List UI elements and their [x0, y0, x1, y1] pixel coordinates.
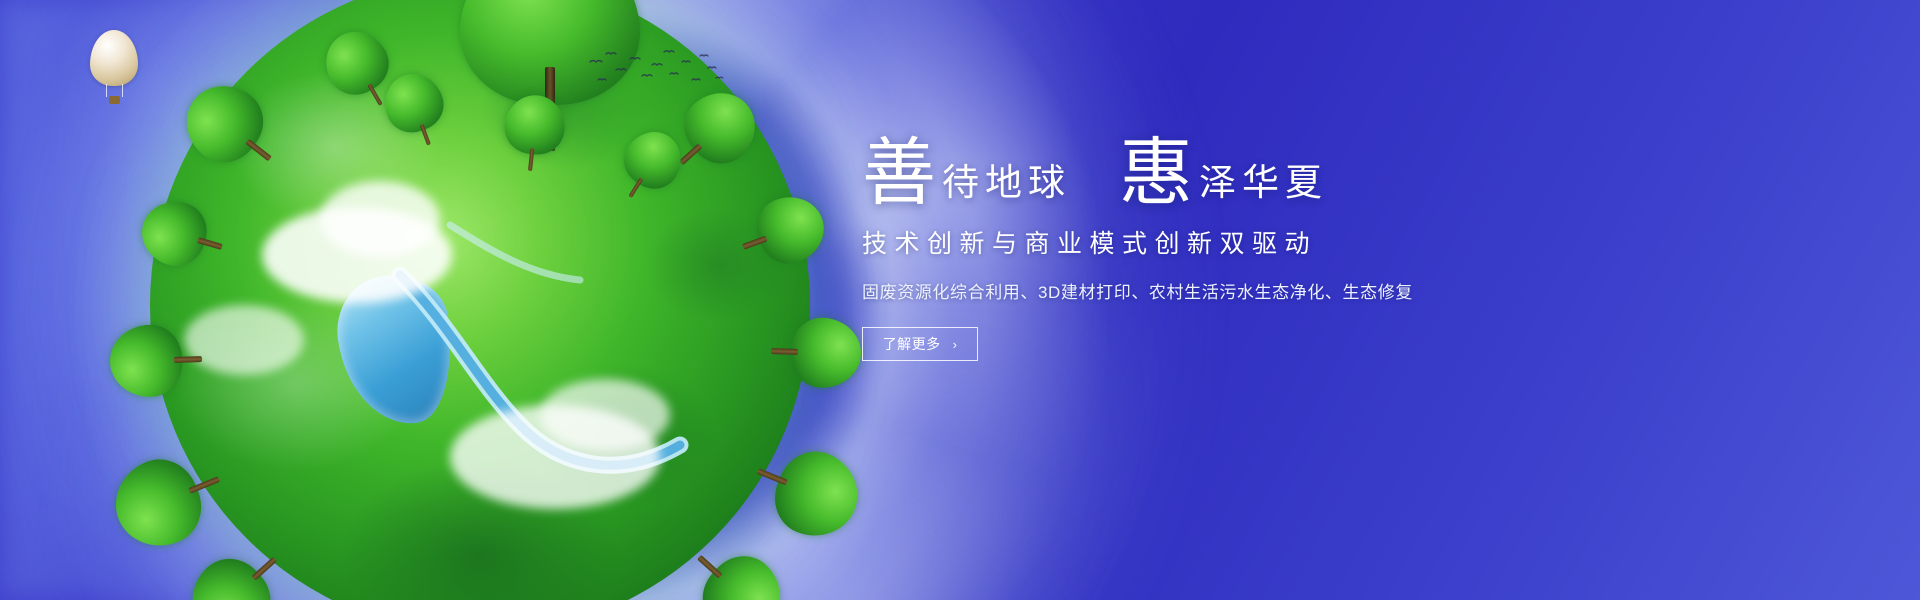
- subtitle: 技术创新与商业模式创新双驱动: [862, 224, 1562, 260]
- bird-flock-icon: [586, 46, 726, 92]
- cloud-puff: [540, 379, 670, 451]
- learn-more-label: 了解更多: [883, 334, 941, 354]
- tree-icon: [500, 92, 568, 174]
- tree-icon: [109, 323, 203, 398]
- hero-content: 善 待地球 惠 泽华夏 技术创新与商业模式创新双驱动 固废资源化综合利用、3D建…: [862, 118, 1562, 361]
- chevron-right-icon: ›: [953, 338, 958, 351]
- page-title: 善 待地球 惠 泽华夏: [862, 118, 1562, 210]
- hero-banner: 善 待地球 惠 泽华夏 技术创新与商业模式创新双驱动 固废资源化综合利用、3D建…: [0, 0, 1920, 600]
- headline-rest-2: 泽华夏: [1199, 165, 1328, 210]
- headline-rest-1: 待地球: [942, 165, 1071, 210]
- headline-char-1: 善: [862, 140, 936, 210]
- cloud-puff: [320, 181, 440, 257]
- tree-icon: [770, 316, 862, 389]
- learn-more-button[interactable]: 了解更多 ›: [862, 327, 978, 361]
- description: 固废资源化综合利用、3D建材打印、农村生活污水生态净化、生态修复: [862, 278, 1562, 303]
- hot-air-balloon-icon: [90, 30, 138, 106]
- headline-char-2: 惠: [1119, 140, 1193, 210]
